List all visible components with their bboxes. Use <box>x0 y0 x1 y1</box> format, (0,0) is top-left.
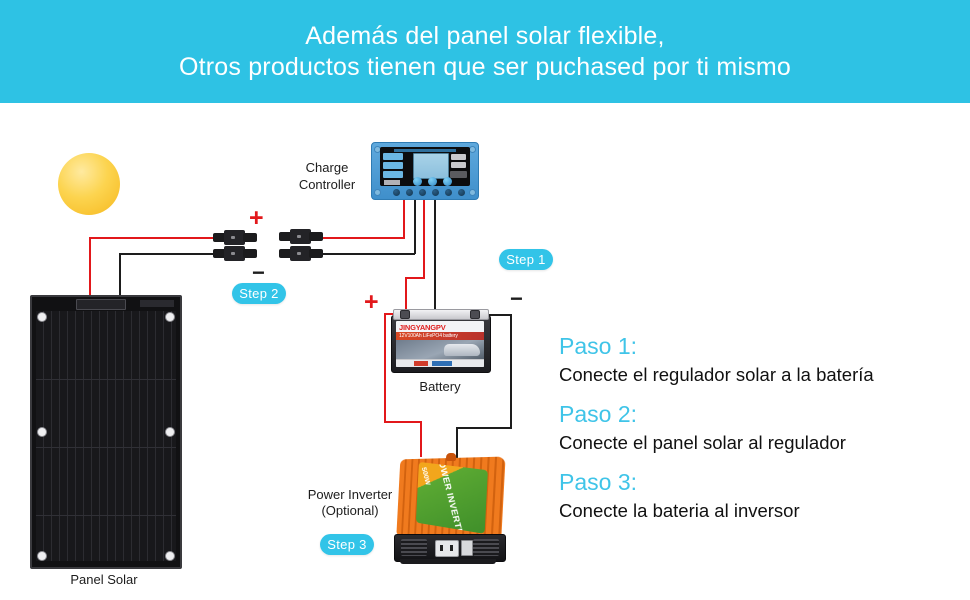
step-item-1: Paso 1: Conecte el regulador solar a la … <box>559 331 959 388</box>
charge-controller-round-button-2[interactable] <box>428 177 437 186</box>
charge-controller-terminal-3 <box>419 189 426 196</box>
mc4-minus-sign: − <box>252 262 265 284</box>
wire-controller-battery-negative-a <box>434 200 436 312</box>
charge-controller-round-button-3[interactable] <box>443 177 452 186</box>
charge-controller-usb-port-2 <box>451 162 466 168</box>
charge-controller-label-line-1: Charge <box>283 160 371 177</box>
battery-terminal-negative <box>470 310 480 319</box>
wire-battery-inverter-positive-c <box>384 421 422 423</box>
wire-controller-battery-positive-a <box>423 200 425 278</box>
charge-controller-side-button-1[interactable] <box>383 153 403 160</box>
steps-panel: Paso 1: Conecte el regulador solar a la … <box>559 331 959 535</box>
charge-controller-device <box>371 142 479 200</box>
charge-controller-terminal-2 <box>406 189 413 196</box>
battery-terminal-positive <box>400 310 410 319</box>
mc4-connector-negative-right <box>279 246 323 261</box>
wire-controller-battery-positive-b <box>405 277 425 279</box>
solar-panel-device <box>30 295 182 569</box>
charge-controller-terminal-6 <box>458 189 465 196</box>
step-1-title: Paso 1: <box>559 331 959 362</box>
battery-minus-sign: − <box>510 288 523 310</box>
charge-controller-panel <box>380 147 470 186</box>
wire-battery-inverter-negative-c <box>456 427 512 429</box>
step-3-description: Conecte la bateria al inversor <box>559 498 959 524</box>
inverter-brand-stripe: 500W POWER INVERTER <box>416 462 488 534</box>
step-item-2: Paso 2: Conecte el panel solar al regula… <box>559 399 959 456</box>
inverter-power-switch[interactable] <box>461 540 473 556</box>
step-3-title: Paso 3: <box>559 467 959 498</box>
charge-controller-terminal-1 <box>393 189 400 196</box>
inverter-vent-left <box>401 539 427 556</box>
power-inverter-label-line-1: Power Inverter <box>288 487 412 504</box>
charge-controller-round-button-1[interactable] <box>413 177 422 186</box>
wire-panel-negative-horizontal <box>119 253 214 255</box>
wire-controller-terminal-negative <box>414 200 416 254</box>
wire-battery-inverter-negative-b <box>510 314 512 428</box>
battery-label: JINGYANGPV 12V100Ah LiFePO4 battery <box>396 321 484 367</box>
mc4-plus-sign: + <box>249 206 264 231</box>
battery-brand-text: JINGYANGPV <box>399 323 446 332</box>
charge-controller-usb-port-1 <box>451 154 466 160</box>
charge-controller-certification-marks <box>384 180 400 185</box>
solar-panel-brand-plate <box>140 300 174 307</box>
inverter-base <box>400 559 496 564</box>
wire-panel-positive-vertical <box>89 237 91 302</box>
battery-caption-label: Battery <box>391 379 489 396</box>
wire-controller-terminal-positive <box>403 200 405 238</box>
inverter-front-face <box>394 534 506 562</box>
mc4-connector-positive-right <box>279 229 323 244</box>
mc4-connector-negative-left <box>213 246 257 261</box>
header-banner: Además del panel solar flexible, Otros p… <box>0 0 970 103</box>
step-2-title: Paso 2: <box>559 399 959 430</box>
mc4-connector-positive-left <box>213 230 257 245</box>
screenshot-root: Además del panel solar flexible, Otros p… <box>0 0 970 600</box>
sun-icon <box>33 128 145 240</box>
charge-controller-side-button-2[interactable] <box>383 162 403 169</box>
header-title-line-2: Otros productos tienen que ser puchased … <box>179 52 791 83</box>
charge-controller-terminal-4 <box>432 189 439 196</box>
wire-battery-inverter-negative-a <box>488 314 512 316</box>
step-badge-3[interactable]: Step 3 <box>320 534 374 555</box>
inverter-watt-text: 500W <box>420 467 431 486</box>
solar-panel-cells <box>36 311 176 561</box>
charge-controller-label-line-2: Controller <box>283 177 371 194</box>
inverter-brand-text: POWER INVERTER <box>435 462 467 534</box>
inverter-ac-socket <box>435 540 459 557</box>
charge-controller-lcd <box>413 153 449 179</box>
step-2-description: Conecte el panel solar al regulador <box>559 430 959 456</box>
charge-controller-terminal-5 <box>445 189 452 196</box>
wire-panel-positive-horizontal <box>89 237 214 239</box>
header-title-line-1: Además del panel solar flexible, <box>305 21 664 52</box>
charge-controller-side-button-3[interactable] <box>383 171 403 178</box>
battery-spec-text: 12V100Ah LiFePO4 battery <box>399 333 458 339</box>
solar-panel-junction-box <box>76 299 126 310</box>
power-inverter-label-line-2: (Optional) <box>288 503 412 520</box>
step-item-3: Paso 3: Conecte la bateria al inversor <box>559 467 959 524</box>
battery-plus-sign: + <box>364 290 379 315</box>
step-badge-2[interactable]: Step 2 <box>232 283 286 304</box>
inverter-vent-right <box>473 539 499 556</box>
charge-controller-mode-label <box>450 171 467 178</box>
solar-panel-label: Panel Solar <box>33 572 175 589</box>
inverter-top-knob <box>446 453 456 461</box>
step-1-description: Conecte el regulador solar a la batería <box>559 362 959 388</box>
wire-battery-inverter-positive-b <box>384 313 386 422</box>
battery-device: JINGYANGPV 12V100Ah LiFePO4 battery <box>391 309 489 371</box>
step-badge-1[interactable]: Step 1 <box>499 249 553 270</box>
